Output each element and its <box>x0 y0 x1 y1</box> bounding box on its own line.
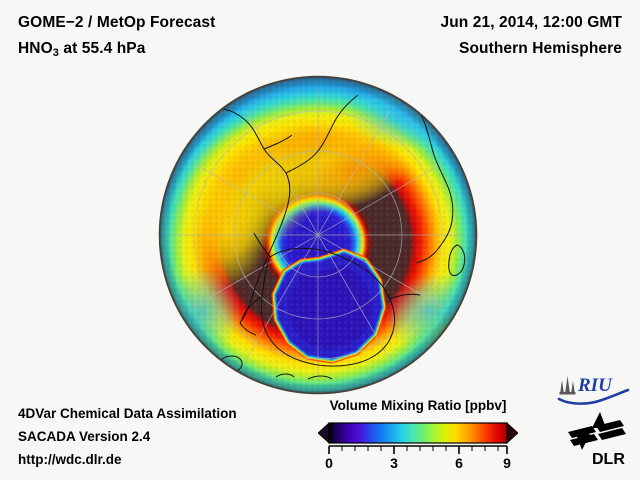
colorbar-tick-label-0: 0 <box>325 455 333 471</box>
hemisphere-label: Southern Hemisphere <box>459 40 622 58</box>
riu-wordmark: RIU <box>577 375 613 396</box>
colorbar: Volume Mixing Ratio [ppbv] <box>318 398 518 472</box>
credits-block: 4DVar Chemical Data Assimilation SACADA … <box>18 402 237 471</box>
colorbar-over-cap <box>507 423 518 443</box>
credit-line-2: SACADA Version 2.4 <box>18 425 237 448</box>
page-title: GOME−2 / MetOp Forecast <box>18 14 215 32</box>
species-altitude-label: HNO3 at 55.4 hPa <box>18 40 145 59</box>
colorbar-under-cap <box>318 423 329 443</box>
colorbar-major-ticks <box>329 446 507 454</box>
colorbar-svg: 0 3 6 9 <box>318 420 518 472</box>
riu-logo: RIU <box>556 372 632 406</box>
dlr-wordmark: DLR <box>592 451 625 468</box>
species-suffix: at 55.4 hPa <box>59 40 146 57</box>
limb-shading <box>159 76 477 394</box>
visualization-page: GOME−2 / MetOp Forecast HNO3 at 55.4 hPa… <box>0 0 640 480</box>
dlr-mark-icon <box>568 412 626 450</box>
globe-map <box>158 75 478 395</box>
species-prefix: HNO <box>18 40 53 57</box>
riu-towers-icon <box>560 376 576 395</box>
colorbar-tick-label-2: 6 <box>455 455 463 471</box>
globe-svg <box>158 75 478 395</box>
datetime-label: Jun 21, 2014, 12:00 GMT <box>441 14 623 32</box>
colorbar-gradient <box>329 423 507 443</box>
colorbar-title: Volume Mixing Ratio [ppbv] <box>318 398 518 413</box>
credit-line-3: http://wdc.dlr.de <box>18 448 237 471</box>
colorbar-minor-ticks <box>342 446 498 451</box>
credit-line-1: 4DVar Chemical Data Assimilation <box>18 402 237 425</box>
dlr-logo: DLR <box>562 410 630 468</box>
colorbar-tick-label-1: 3 <box>390 455 398 471</box>
colorbar-tick-label-3: 9 <box>503 455 511 471</box>
